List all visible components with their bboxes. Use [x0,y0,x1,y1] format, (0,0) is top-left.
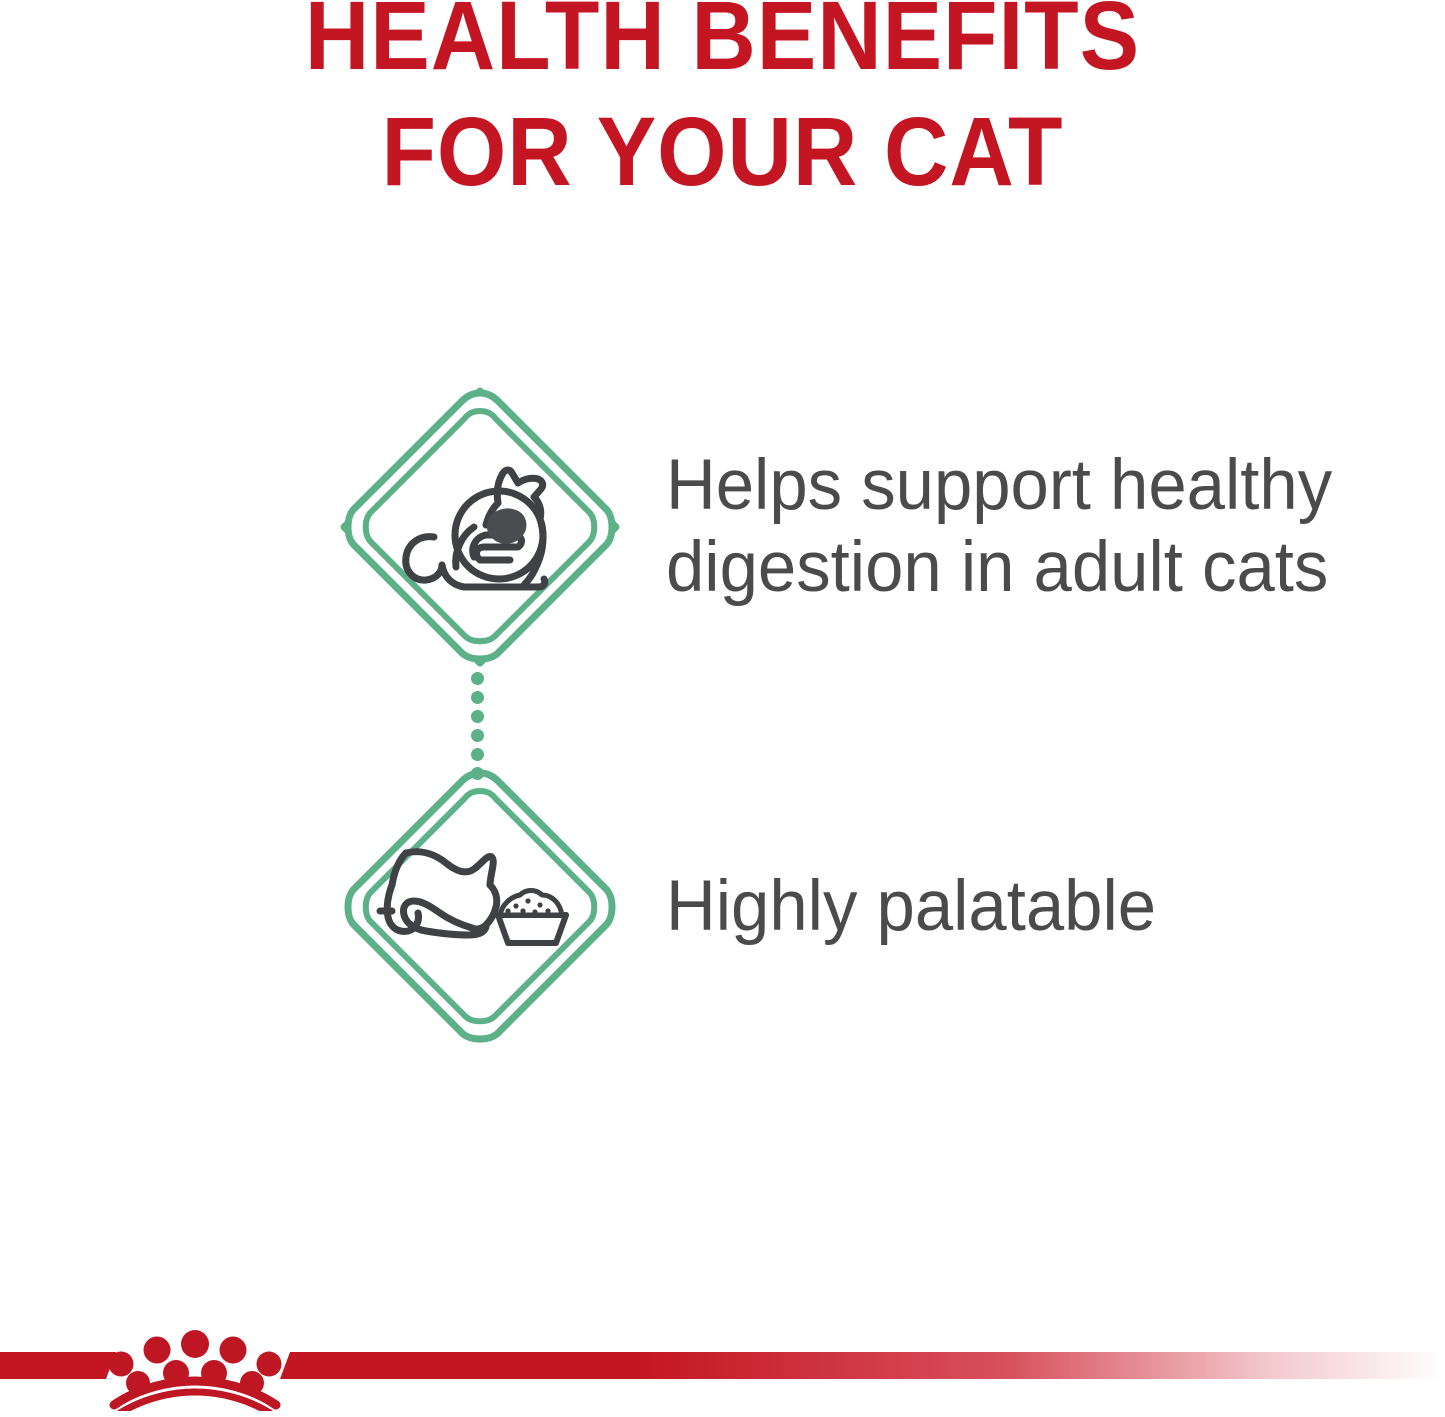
connector-dot [471,748,484,761]
benefits-list: Helps support healthy digestion in adult… [0,0,1445,1417]
connector-dot [471,710,484,723]
connector-dot [471,672,484,685]
benefit-item-palatable: Highly palatable [338,765,1171,1049]
brand-bar-right [290,1352,1445,1379]
footer-brand-bar [0,1317,1445,1417]
health-benefits-panel: HEALTH BENEFITS FOR YOUR CAT [0,0,1445,1417]
connector-dot [471,729,484,742]
cat-digestion-icon [338,385,622,669]
connector-dot [471,691,484,704]
connector-dot [471,767,484,780]
benefit-label-digestion: Helps support healthy digestion in adult… [666,445,1403,609]
cat-eating-bowl-icon [338,765,622,1049]
royal-canin-crown-logo [100,1323,290,1411]
benefit-item-digestion: Helps support healthy digestion in adult… [338,385,1426,669]
benefit-label-palatable: Highly palatable [666,866,1156,948]
dotted-connector [471,672,489,772]
brand-bar-left [0,1352,106,1379]
